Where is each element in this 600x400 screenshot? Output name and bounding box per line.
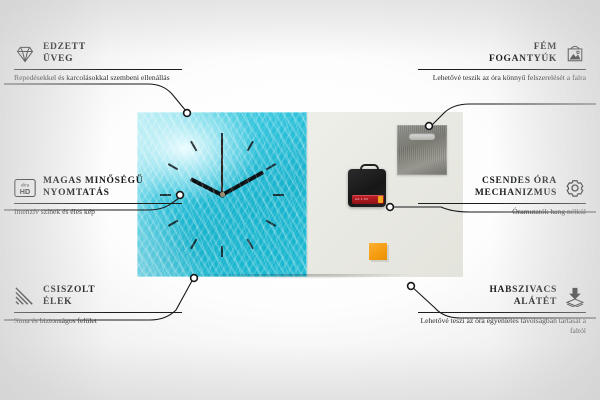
product-image: AA 1.5V bbox=[137, 112, 463, 277]
callout-description: Intenzív színek és éles kép bbox=[14, 207, 182, 217]
mechanism-loop bbox=[360, 164, 379, 174]
gear-icon bbox=[564, 178, 586, 198]
product-drop-shadow bbox=[137, 274, 463, 286]
foam-pad-icon bbox=[564, 287, 586, 307]
hour-marker bbox=[168, 219, 179, 226]
callout-title-2: ÉLEK bbox=[43, 297, 95, 309]
callout-divider bbox=[418, 312, 586, 313]
ultra-hd-icon: ultra HD bbox=[14, 178, 36, 198]
hour-marker bbox=[273, 194, 284, 196]
callout-description: Lehetővé teszik az óra könnyű felszerelé… bbox=[418, 73, 586, 83]
callout-title-2: ÜVEG bbox=[43, 54, 86, 66]
hour-marker bbox=[247, 140, 254, 151]
polished-edge-icon bbox=[14, 287, 36, 307]
callout-title-2: NYOMTATÁS bbox=[43, 188, 143, 200]
callout-silent-mechanism: CSENDES ÓRA MECHANIZMUS Óramutatók hang … bbox=[418, 176, 586, 217]
callout-title-2: ALÁTÉT bbox=[489, 297, 557, 309]
hour-marker bbox=[266, 219, 277, 226]
hour-marker bbox=[221, 246, 223, 257]
hour-marker bbox=[168, 163, 179, 170]
second-hand bbox=[221, 139, 223, 195]
callout-divider bbox=[14, 69, 182, 70]
callout-title-2: FOGANTYÚK bbox=[489, 54, 557, 66]
callout-title: HABSZIVACS bbox=[489, 285, 557, 297]
callout-description: Repedésekkel és karcolásokkal szembeni e… bbox=[14, 73, 182, 83]
callout-title: EDZETT bbox=[43, 42, 86, 54]
hour-hand bbox=[190, 177, 223, 196]
minute-hand bbox=[221, 170, 264, 196]
picture-hanger-icon bbox=[564, 44, 586, 64]
battery-tip bbox=[378, 196, 383, 203]
hour-marker bbox=[266, 163, 277, 170]
callout-title: FÉM bbox=[489, 42, 557, 54]
callout-divider bbox=[14, 312, 182, 313]
foam-pad-sample bbox=[369, 243, 387, 260]
callout-title: CSENDES ÓRA bbox=[475, 176, 557, 188]
battery: AA 1.5V bbox=[352, 195, 384, 204]
callout-metal-handles: FÉM FOGANTYÚK Lehetővé teszik az óra kön… bbox=[418, 42, 586, 83]
hour-marker bbox=[247, 238, 254, 249]
clock-pivot bbox=[220, 192, 225, 197]
callout-polished-edges: CSISZOLT ÉLEK Sima és biztonságos felüle… bbox=[14, 285, 182, 326]
callout-description: Lehetővé teszi az óra egyenletes távolsá… bbox=[418, 316, 586, 335]
callout-description: Sima és biztonságos felület bbox=[14, 316, 182, 326]
callout-divider bbox=[14, 203, 182, 204]
clock-mechanism: AA 1.5V bbox=[348, 169, 386, 207]
metal-hanger-plate bbox=[397, 125, 447, 175]
svg-text:HD: HD bbox=[20, 186, 30, 195]
callout-title-2: MECHANIZMUS bbox=[475, 188, 557, 200]
hour-marker bbox=[190, 140, 197, 151]
hanger-slot bbox=[409, 133, 435, 140]
hour-marker bbox=[190, 238, 197, 249]
callout-description: Óramutatók hang nélkül bbox=[418, 207, 586, 217]
callout-divider bbox=[418, 69, 586, 70]
infographic-canvas: AA 1.5V bbox=[0, 0, 600, 400]
callout-title: CSISZOLT bbox=[43, 285, 95, 297]
callout-divider bbox=[418, 203, 586, 204]
callout-title: MAGAS MINŐSÉGŰ bbox=[43, 176, 143, 188]
callout-high-quality-print: ultra HD MAGAS MINŐSÉGŰ NYOMTATÁS Intenz… bbox=[14, 176, 182, 217]
diamond-icon bbox=[14, 44, 36, 64]
callout-tempered-glass: EDZETT ÜVEG Repedésekkel és karcolásokka… bbox=[14, 42, 182, 83]
callout-foam-pad: HABSZIVACS ALÁTÉT Lehetővé teszi az óra … bbox=[418, 285, 586, 335]
hour-marker bbox=[221, 133, 223, 144]
battery-label: AA 1.5V bbox=[355, 197, 369, 201]
